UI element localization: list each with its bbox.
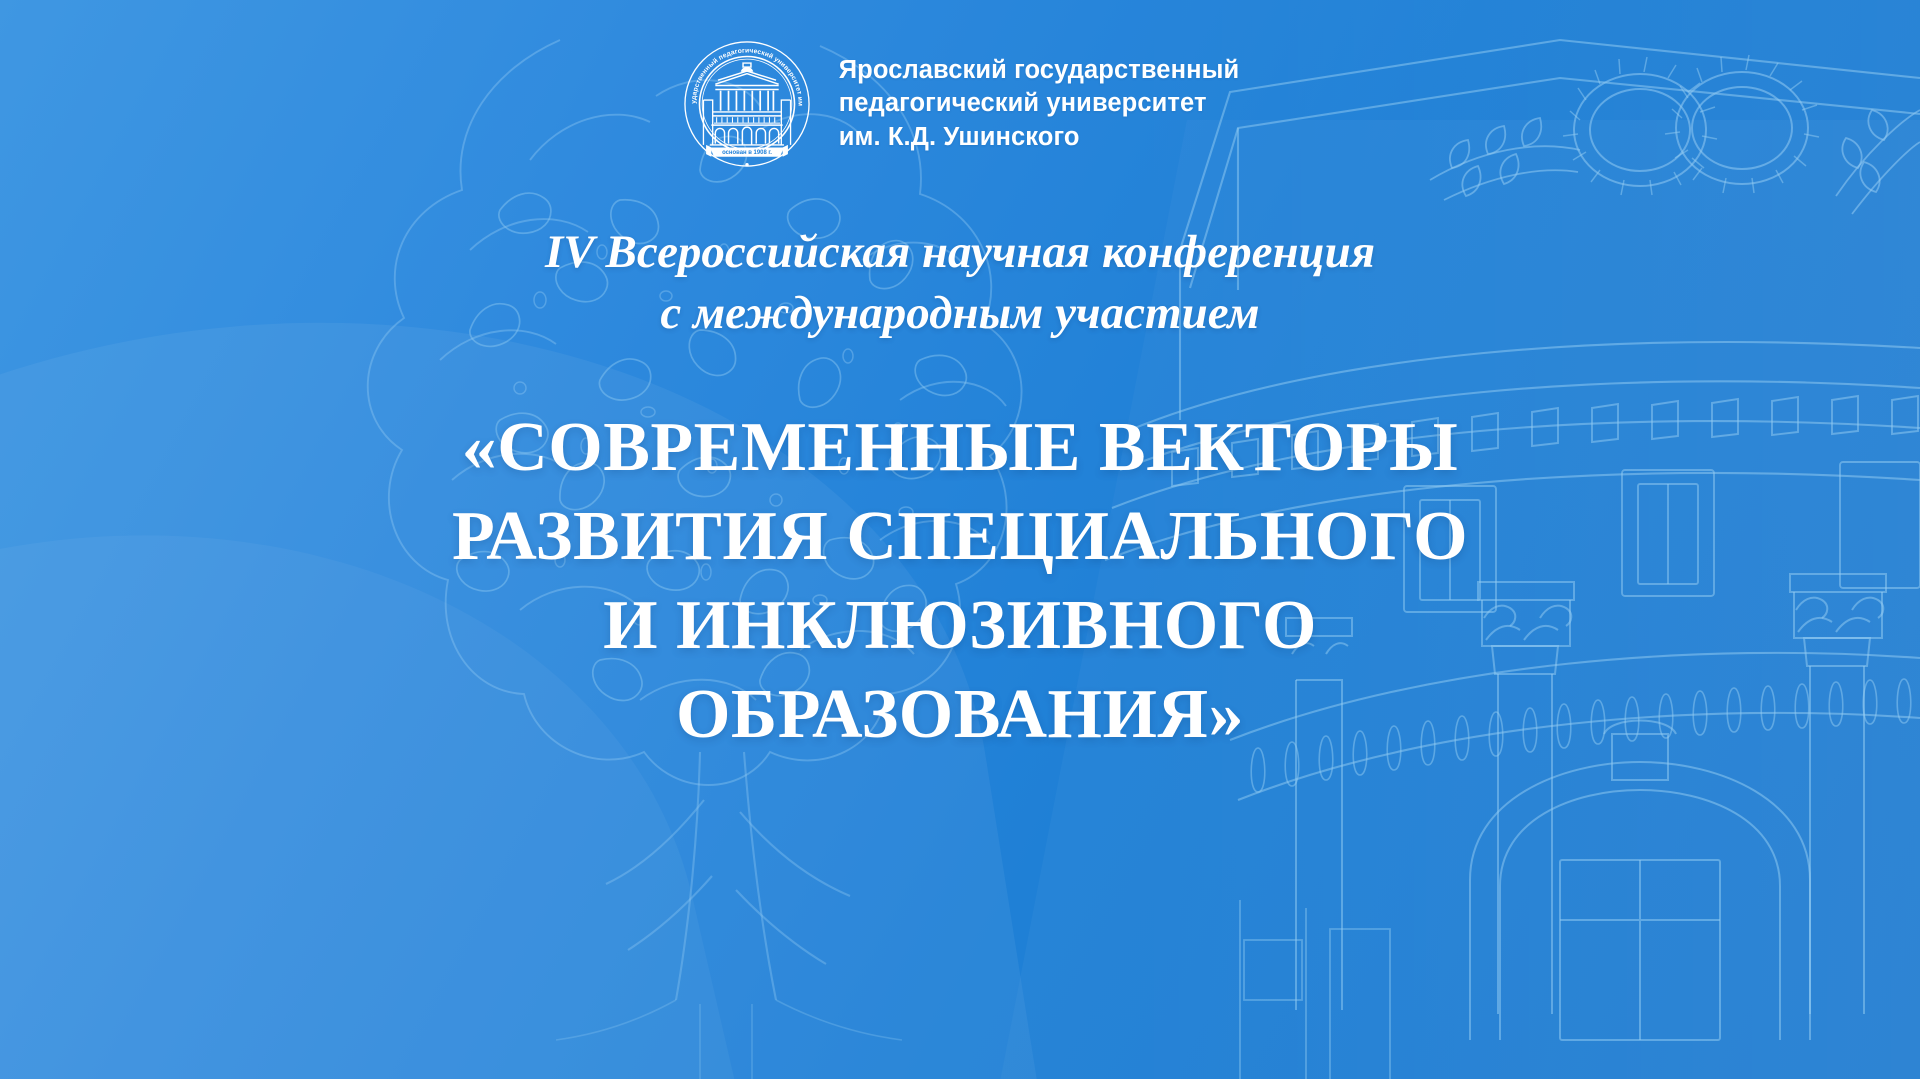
- conference-title: «СОВРЕМЕННЫЕ ВЕКТОРЫ РАЗВИТИЯ СПЕЦИАЛЬНО…: [0, 404, 1920, 760]
- yspu-university-emblem-icon: Ярославский государственный педагогическ…: [681, 38, 813, 170]
- emblem-ribbon: основан в 1908 г.: [706, 145, 788, 157]
- conference-banner: Ярославский государственный педагогическ…: [0, 0, 1920, 1079]
- conference-subtitle: IV Всероссийская научная конференция с м…: [0, 222, 1920, 344]
- organization-name: Ярославский государственный педагогическ…: [839, 54, 1239, 153]
- banner-header: Ярославский государственный педагогическ…: [0, 38, 1920, 170]
- svg-text:основан в 1908 г.: основан в 1908 г.: [722, 150, 772, 156]
